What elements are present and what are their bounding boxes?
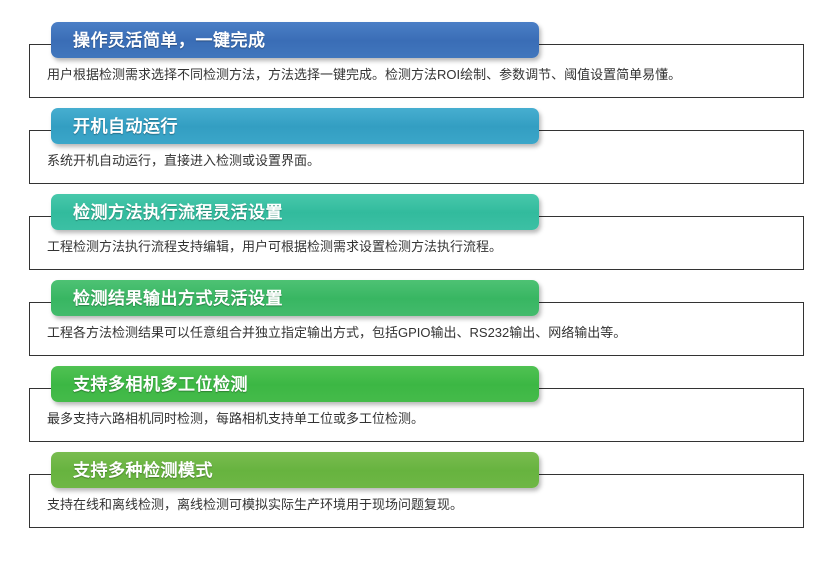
card-title: 开机自动运行 (73, 118, 178, 135)
card-body-text: 工程各方法检测结果可以任意组合并独立指定输出方式，包括GPIO输出、RS232输… (47, 325, 626, 340)
card-body-text: 系统开机自动运行，直接进入检测或设置界面。 (47, 153, 320, 168)
card-title: 检测方法执行流程灵活设置 (73, 204, 283, 221)
card-banner: 检测结果输出方式灵活设置 (51, 280, 539, 316)
card-body: 工程检测方法执行流程支持编辑，用户可根据检测需求设置检测方法执行流程。 (47, 238, 795, 256)
card-banner: 操作灵活简单，一键完成 (51, 22, 539, 58)
card-body: 工程各方法检测结果可以任意组合并独立指定输出方式，包括GPIO输出、RS232输… (47, 324, 795, 342)
card-banner: 检测方法执行流程灵活设置 (51, 194, 539, 230)
card-body-text: 用户根据检测需求选择不同检测方法，方法选择一键完成。检测方法ROI绘制、参数调节… (47, 67, 681, 82)
card-body: 最多支持六路相机同时检测，每路相机支持单工位或多工位检测。 (47, 410, 795, 428)
card-body: 用户根据检测需求选择不同检测方法，方法选择一键完成。检测方法ROI绘制、参数调节… (47, 66, 795, 84)
card-body-text: 最多支持六路相机同时检测，每路相机支持单工位或多工位检测。 (47, 411, 424, 426)
feature-board: 操作灵活简单，一键完成用户根据检测需求选择不同检测方法，方法选择一键完成。检测方… (0, 0, 836, 588)
card-body-text: 支持在线和离线检测，离线检测可模拟实际生产环境用于现场问题复现。 (47, 497, 463, 512)
card-title: 支持多种检测模式 (73, 462, 213, 479)
card-title: 操作灵活简单，一键完成 (73, 32, 266, 49)
card-banner: 支持多种检测模式 (51, 452, 539, 488)
card-body: 系统开机自动运行，直接进入检测或设置界面。 (47, 152, 795, 170)
card-banner: 开机自动运行 (51, 108, 539, 144)
card-title: 支持多相机多工位检测 (73, 376, 248, 393)
card-body-text: 工程检测方法执行流程支持编辑，用户可根据检测需求设置检测方法执行流程。 (47, 239, 502, 254)
card-title: 检测结果输出方式灵活设置 (73, 290, 283, 307)
card-body: 支持在线和离线检测，离线检测可模拟实际生产环境用于现场问题复现。 (47, 496, 795, 514)
card-banner: 支持多相机多工位检测 (51, 366, 539, 402)
